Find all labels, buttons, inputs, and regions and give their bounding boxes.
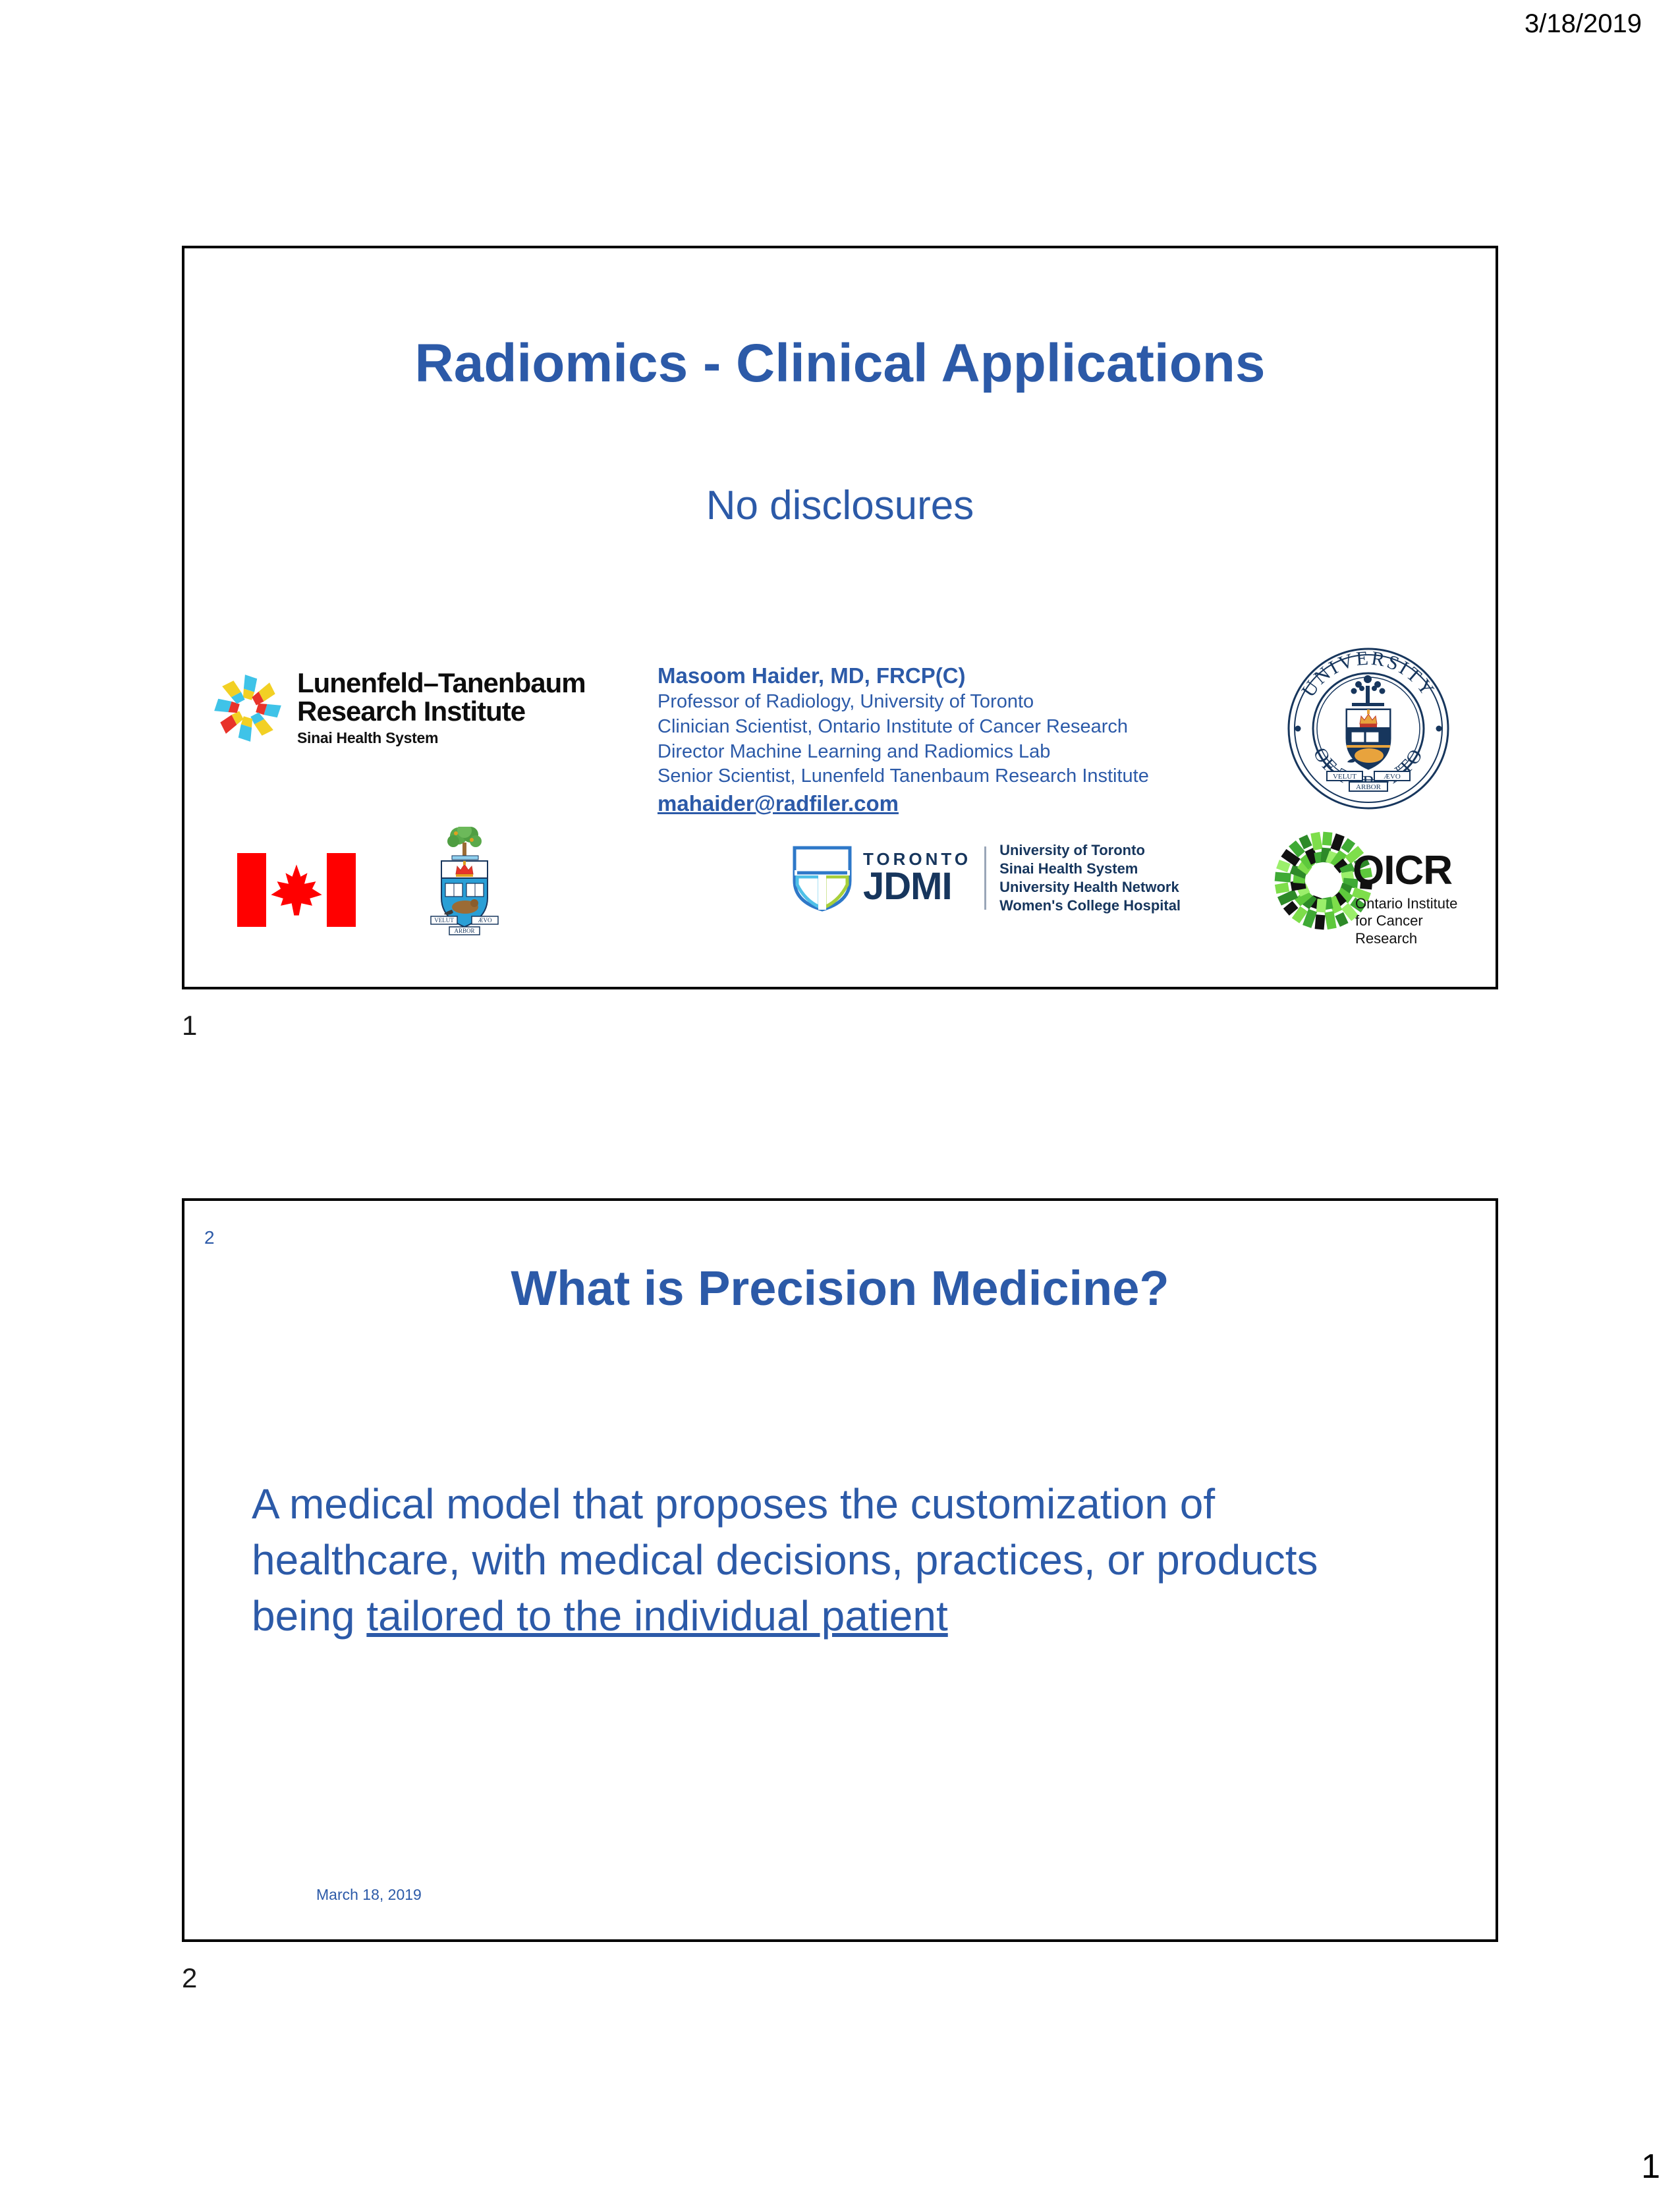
lunenfeld-logo-line2: Research Institute bbox=[297, 698, 586, 726]
seal-motto-left: VELUT bbox=[1333, 773, 1357, 781]
slide-2-page-number: 2 bbox=[182, 1962, 197, 1994]
lunenfeld-pinwheel-icon bbox=[208, 668, 288, 748]
canadian-flag-icon bbox=[237, 853, 356, 927]
seal-motto-right: ÆVO bbox=[1384, 773, 1401, 781]
slide2-body-underlined: tailored to the individual patient bbox=[366, 1592, 947, 1640]
jdmi-affiliate-1: University of Toronto bbox=[999, 841, 1181, 860]
coa-motto-left: VELUT bbox=[434, 917, 454, 924]
presenter-affiliation-4: Senior Scientist, Lunenfeld Tanenbaum Re… bbox=[658, 764, 1250, 789]
uoft-coat-of-arms-icon: VELUT ÆVO ARBOR bbox=[428, 827, 501, 939]
university-of-toronto-seal-icon: UNIVERSITY OF TORONTO bbox=[1286, 646, 1451, 811]
seal-motto-center: ARBOR bbox=[1356, 783, 1382, 791]
lunenfeld-logo-line3: Sinai Health System bbox=[297, 729, 586, 747]
jdmi-affiliates: University of Toronto Sinai Health Syste… bbox=[999, 841, 1181, 916]
jdmi-acronym: JDMI bbox=[863, 868, 971, 906]
presenter-affiliation-3: Director Machine Learning and Radiomics … bbox=[658, 740, 1250, 765]
slide2-placeholder-number: 2 bbox=[204, 1227, 215, 1248]
jdmi-affiliate-4: Women's College Hospital bbox=[999, 897, 1181, 915]
presenter-affiliation-2: Clinician Scientist, Ontario Institute o… bbox=[658, 715, 1250, 740]
slide1-subtitle: No disclosures bbox=[184, 482, 1496, 529]
jdmi-logo: TORONTO JDMI University of Toronto Sinai… bbox=[791, 841, 1181, 916]
document-page-number: 1 bbox=[1641, 2147, 1660, 2186]
oicr-subtitle-line1: Ontario Institute bbox=[1355, 895, 1459, 912]
jdmi-affiliate-2: Sinai Health System bbox=[999, 860, 1181, 878]
presenter-name: Masoom Haider, MD, FRCP(C) bbox=[658, 662, 1250, 690]
slide-2: 2 What is Precision Medicine? A medical … bbox=[182, 1198, 1498, 1942]
coa-motto-center: ARBOR bbox=[454, 928, 474, 934]
lunenfeld-logo-line1: Lunenfeld–Tanenbaum bbox=[297, 669, 586, 698]
slide2-body-text: A medical model that proposes the custom… bbox=[252, 1476, 1431, 1644]
oicr-acronym: OICR bbox=[1353, 850, 1452, 891]
oicr-subtitle: Ontario Institute for Cancer Research bbox=[1355, 895, 1459, 947]
oicr-logo: OICR Ontario Institute for Cancer Resear… bbox=[1275, 827, 1459, 939]
slide2-title: What is Precision Medicine? bbox=[184, 1260, 1496, 1316]
slide2-footer-date: March 18, 2019 bbox=[316, 1886, 422, 1904]
page-date-header: 3/18/2019 bbox=[1525, 9, 1642, 39]
presenter-block: Masoom Haider, MD, FRCP(C) Professor of … bbox=[658, 662, 1250, 819]
jdmi-shield-icon bbox=[791, 844, 854, 912]
slide-1: Radiomics - Clinical Applications No dis… bbox=[182, 246, 1498, 989]
presenter-affiliation-1: Professor of Radiology, University of To… bbox=[658, 690, 1250, 715]
lunenfeld-tanenbaum-logo: Lunenfeld–Tanenbaum Research Institute S… bbox=[208, 668, 609, 780]
slide-1-page-number: 1 bbox=[182, 1010, 197, 1041]
jdmi-divider bbox=[984, 846, 986, 910]
jdmi-affiliate-3: University Health Network bbox=[999, 878, 1181, 897]
coa-motto-right: ÆVO bbox=[478, 917, 492, 924]
slide1-title: Radiomics - Clinical Applications bbox=[184, 333, 1496, 395]
oicr-subtitle-line2: for Cancer Research bbox=[1355, 912, 1459, 947]
presenter-email-link[interactable]: mahaider@radfiler.com bbox=[658, 789, 1250, 819]
